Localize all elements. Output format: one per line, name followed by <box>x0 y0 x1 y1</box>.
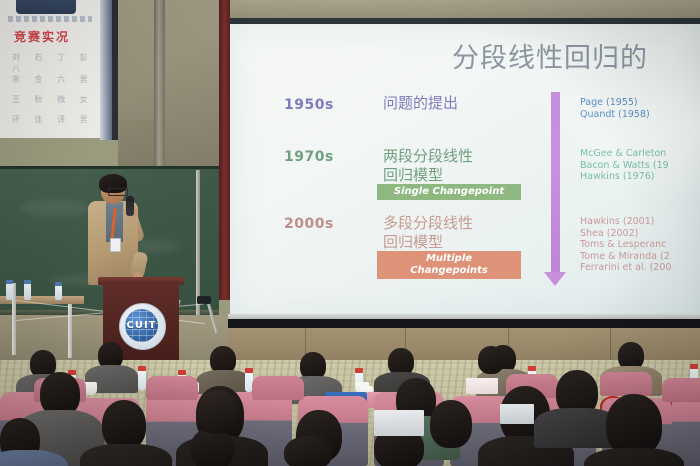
audience-head <box>198 390 238 434</box>
laptop-device[interactable] <box>374 410 424 436</box>
screen-stand-pole <box>196 170 200 315</box>
wall-metal-strip <box>154 0 165 190</box>
slide-year-1970s: 1970s <box>284 149 334 165</box>
chalk-smudge <box>20 199 90 217</box>
timeline-arrow-head <box>544 272 566 286</box>
poster-line: 王 秋 微 女 <box>12 94 94 105</box>
glasses-icon <box>108 188 128 196</box>
bottle-cap <box>245 368 253 373</box>
poster-dark-edge <box>112 0 118 140</box>
bottle-cap <box>24 280 31 284</box>
slide-year-1950s: 1950s <box>284 97 334 113</box>
table-leg <box>68 304 72 358</box>
audience-head <box>478 346 504 374</box>
audience-head <box>102 400 146 450</box>
timeline-arrow-shaft <box>551 92 560 274</box>
poster-edge <box>100 0 112 140</box>
slide-badge-multiple-changepoints: Multiple Changepoints <box>377 251 521 279</box>
slide-year-2000s: 2000s <box>284 216 334 232</box>
bottle-cap <box>528 366 536 371</box>
poster-caption-lines <box>8 16 92 22</box>
audience-shoulders <box>584 448 684 466</box>
audience-head-long-hair <box>606 394 662 456</box>
name-placard <box>466 378 498 394</box>
screen-bottom-bar <box>228 319 700 328</box>
poster-title: 竞赛实况 <box>14 28 70 45</box>
slide-topic-2000s: 多段分段线性 回归模型 <box>383 214 473 252</box>
bottle-cap <box>355 368 363 373</box>
bottle-cap <box>138 366 146 371</box>
speaker-id-badge <box>110 238 121 252</box>
bottle-cap <box>178 370 186 375</box>
laptop-device[interactable] <box>500 404 534 424</box>
slide-refs-2000s: Hawkins (2001) Shea (2002) Toms & Lesper… <box>580 216 671 274</box>
bottle-cap <box>690 364 698 369</box>
audience-head <box>430 400 472 448</box>
lecture-hall-photo: 竞赛实况 刘 石 丁 彭 八 宋 金 六 男 王 秋 微 女 环 佳 译 男 分… <box>0 0 700 466</box>
bottle-cap <box>55 282 62 286</box>
auditorium-seat-back <box>252 376 304 400</box>
water-bottle <box>6 283 13 300</box>
poster-photo <box>16 0 76 14</box>
water-bottle <box>138 370 146 390</box>
bottle-cap <box>6 280 13 284</box>
water-bottle <box>55 285 62 300</box>
audience-head <box>284 436 332 466</box>
audience-shoulders <box>80 444 172 466</box>
water-bottle <box>24 283 31 300</box>
poster-line: 宋 金 六 男 <box>12 74 94 85</box>
slide-topic-1970s: 两段分段线性 回归模型 <box>383 147 473 185</box>
stand-base <box>197 296 211 304</box>
screen-left-frame <box>219 0 230 300</box>
auditorium-seat-back <box>146 376 198 400</box>
auditorium-seat-back <box>600 372 652 396</box>
slide-topic-1950s: 问题的提出 <box>383 94 458 113</box>
slide-refs-1950s: Page (1955) Quandt (1958) <box>580 97 650 120</box>
poster-line: 刘 石 丁 彭 八 <box>12 52 100 74</box>
podium-emblem-text: CUIT <box>119 320 164 331</box>
auditorium-seat-back <box>662 378 700 402</box>
slide-badge-single-changepoint: Single Changepoint <box>377 184 521 200</box>
microphone-icon <box>126 196 134 216</box>
slide-title: 分段线性回归的 <box>452 36 648 75</box>
poster-line: 环 佳 译 男 <box>12 114 94 125</box>
slide-refs-1970s: McGee & Carleton Bacon & Watts (19 Hawki… <box>580 148 669 183</box>
side-poster: 竞赛实况 刘 石 丁 彭 八 宋 金 六 男 王 秋 微 女 环 佳 译 男 <box>0 0 103 138</box>
